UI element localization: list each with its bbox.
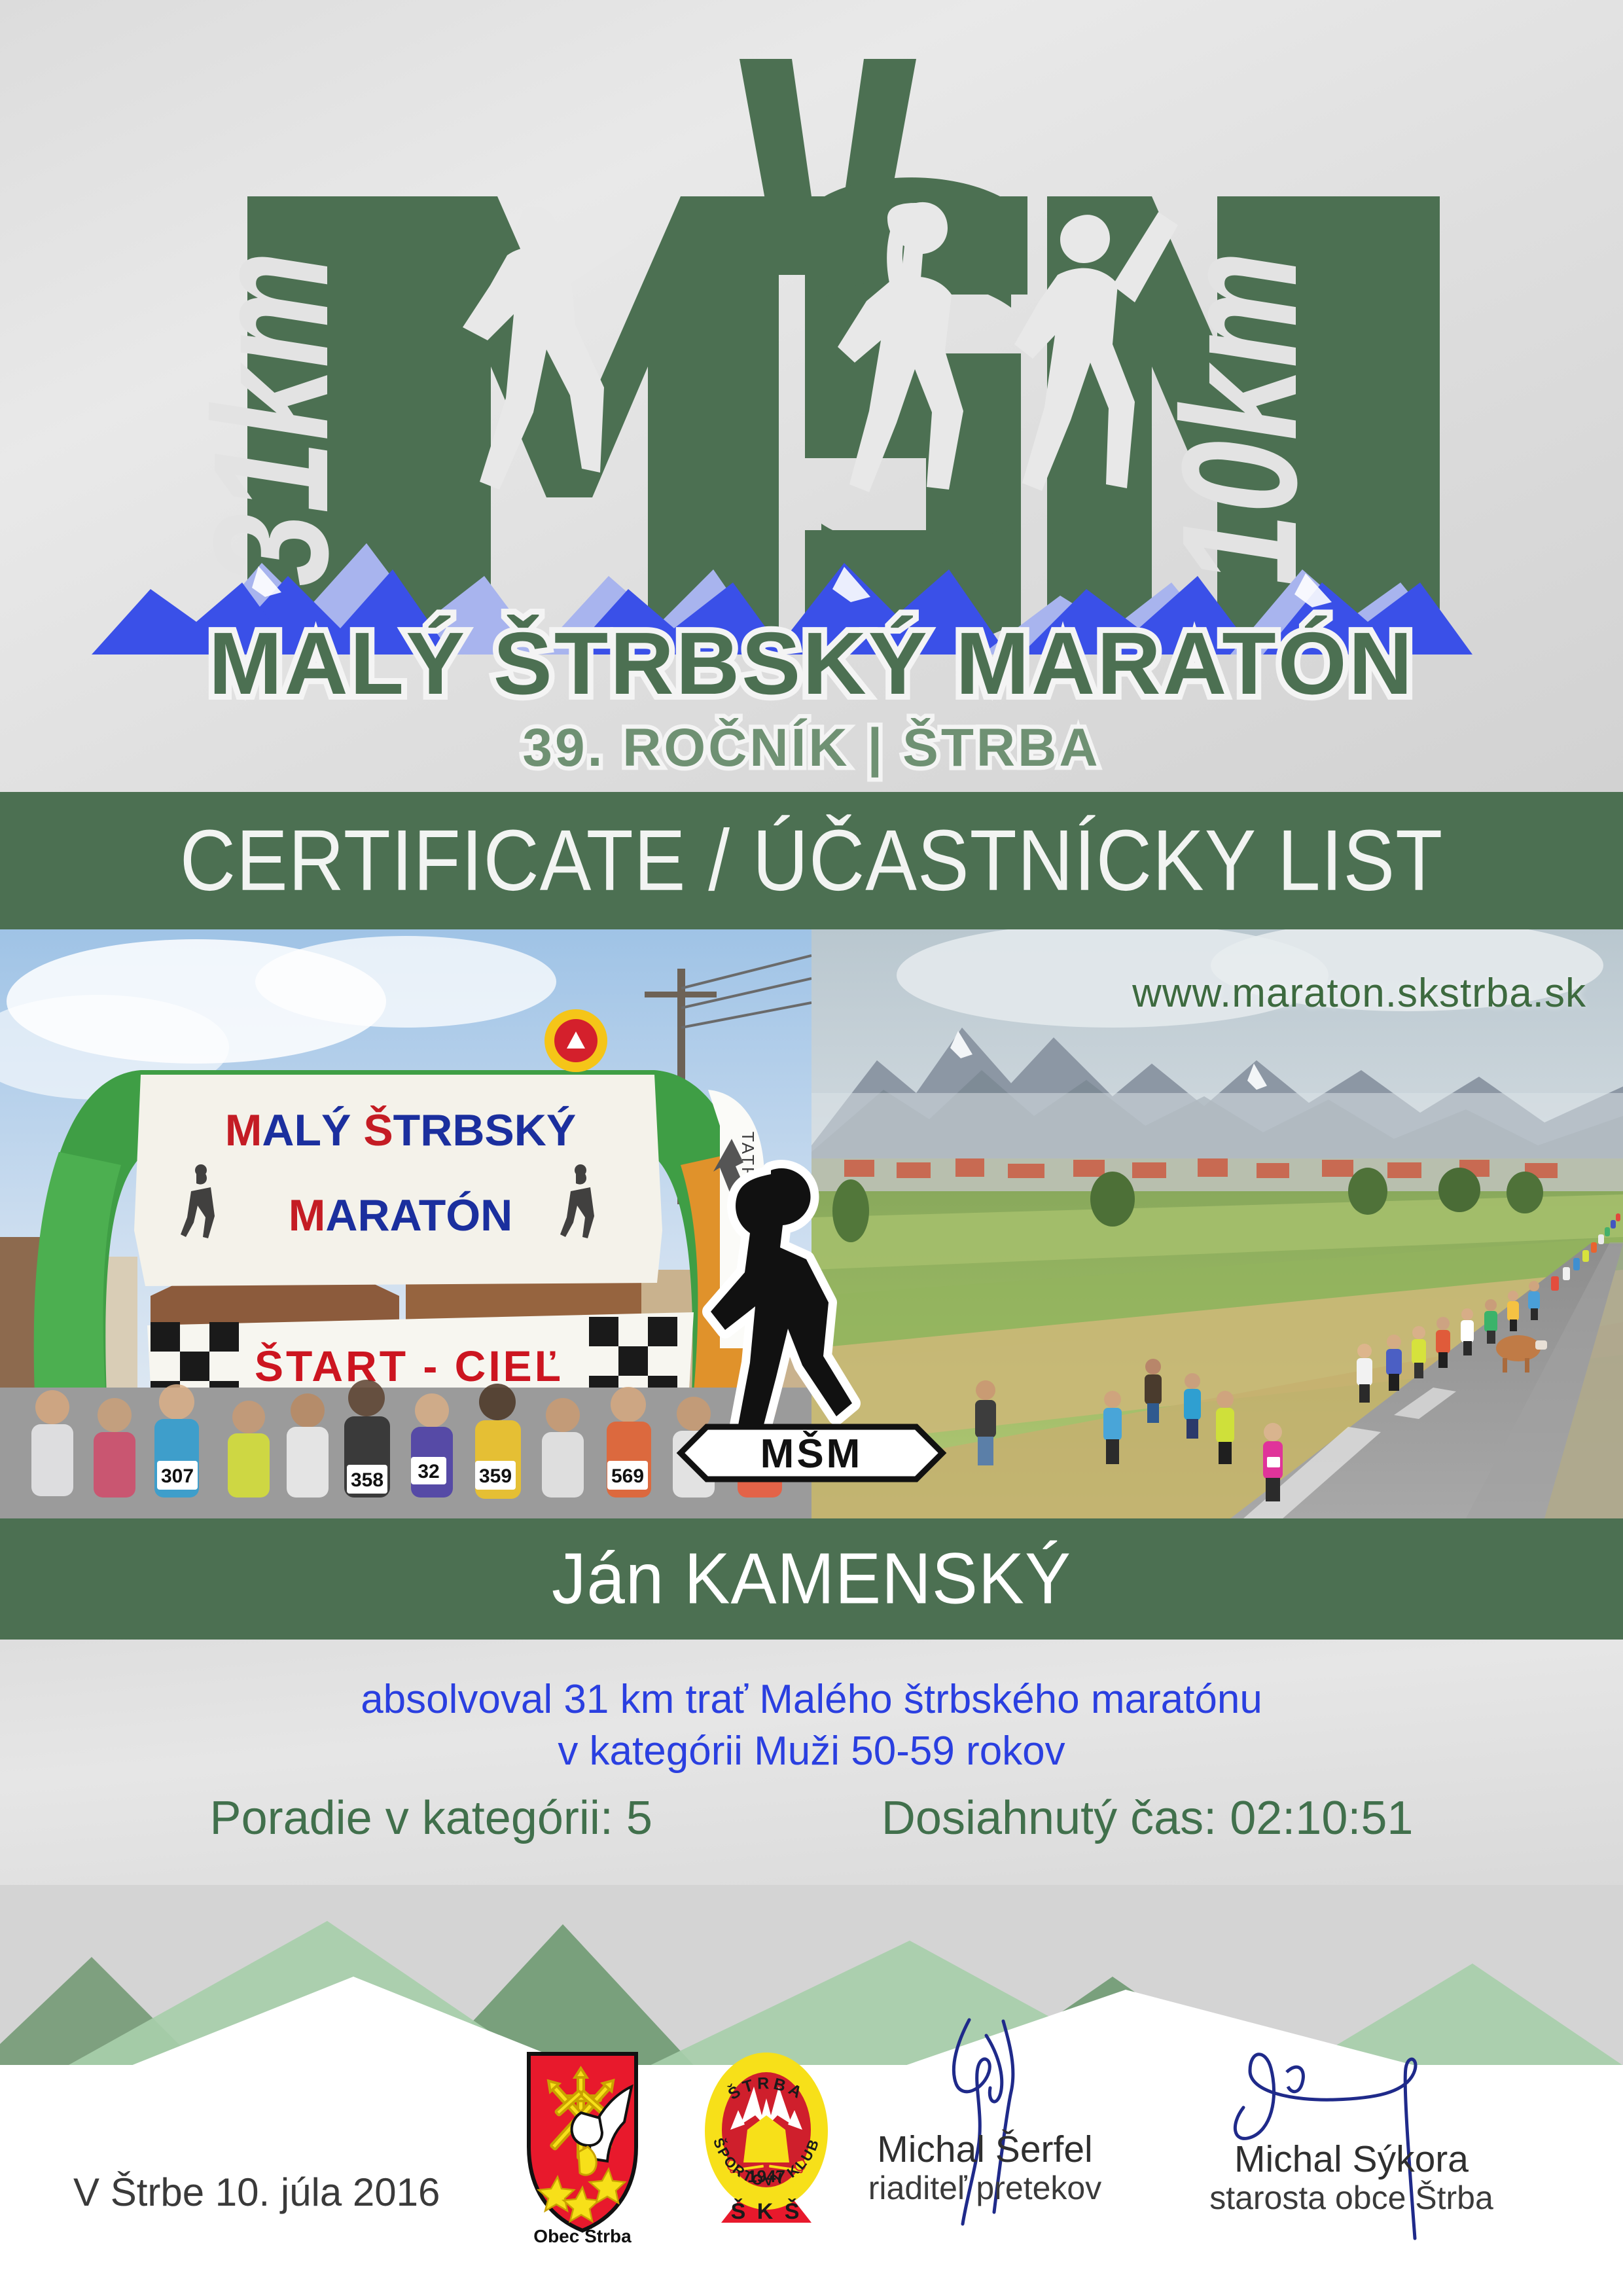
certificate-title: CERTIFICATE / ÚČASTNÍCKY LIST [180,811,1443,910]
finish-time: Dosiahnutý čas: 02:10:51 [882,1791,1414,1845]
website-url: www.maraton.skstrba.sk [1132,970,1586,1016]
svg-text:ŠTART - CIEĽ: ŠTART - CIEĽ [255,1342,563,1390]
race-photos: MALÝ ŠTRBSKÝ MARATÓN [0,929,1623,1518]
category-rank: Poradie v kategórii: 5 [210,1791,652,1845]
issue-date: V Štrbe 10. júla 2016 [73,2170,440,2215]
certificate-body: absolvoval 31 km trať Malého štrbského m… [0,1640,1623,1908]
svg-text:MARATÓN: MARATÓN [289,1191,512,1240]
signature-role: starosta obce Štrba [1198,2179,1505,2217]
sks-bottom-text: Š K Š [731,2198,802,2224]
description-line-2: v kategórii Muži 50-59 rokov [0,1725,1623,1777]
achievement-description: absolvoval 31 km trať Malého štrbského m… [0,1674,1623,1778]
results-row: Poradie v kategórii: 5 Dosiahnutý čas: 0… [0,1791,1623,1845]
svg-text:307: 307 [161,1465,194,1487]
signature-block-mayor: Michal Sýkora starosta obce Štrba [1198,2140,1505,2217]
svg-text:MŠM: MŠM [760,1431,863,1477]
event-logo-block: 31km 10km [0,0,1623,792]
sks-strba-logo: 1947 ŠTRBA ŠPORTOVÝ KLUB Š K Š [694,2047,839,2241]
svg-text:358: 358 [351,1469,383,1491]
signature-name: Michal Sýkora [1198,2140,1505,2179]
svg-text:569: 569 [611,1465,644,1487]
obec-crest-label: Obec Štrba [533,2225,632,2245]
event-subtitle-text: 39. ROČNÍK | ŠTRBA [522,718,1100,778]
signature-block-director: Michal Šerfel riaditeľ pretekov [844,2130,1126,2207]
photo-strip: MALÝ ŠTRBSKÝ MARATÓN [0,929,1623,1518]
svg-text:31km: 31km [179,251,362,586]
svg-text:MALÝ ŠTRBSKÝ: MALÝ ŠTRBSKÝ [225,1105,577,1155]
signature-name: Michal Šerfel [844,2130,1126,2170]
obec-strba-crest: Obec Štrba [517,2049,648,2245]
participant-name-band: Ján KAMENSKÝ [0,1518,1623,1640]
description-line-1: absolvoval 31 km trať Malého štrbského m… [0,1674,1623,1725]
svg-text:10km: 10km [1148,251,1330,586]
event-title-text: MALÝ ŠTRBSKÝ MARATÓN [209,614,1414,713]
certificate-page: 31km 10km [0,0,1623,2296]
participant-name: Ján KAMENSKÝ [552,1538,1071,1621]
msm-logo-graphic: 31km 10km [0,0,1623,792]
svg-text:359: 359 [479,1465,512,1487]
signature-role: riaditeľ pretekov [844,2170,1126,2208]
svg-text:32: 32 [418,1461,439,1482]
certificate-title-band: CERTIFICATE / ÚČASTNÍCKY LIST [0,792,1623,929]
